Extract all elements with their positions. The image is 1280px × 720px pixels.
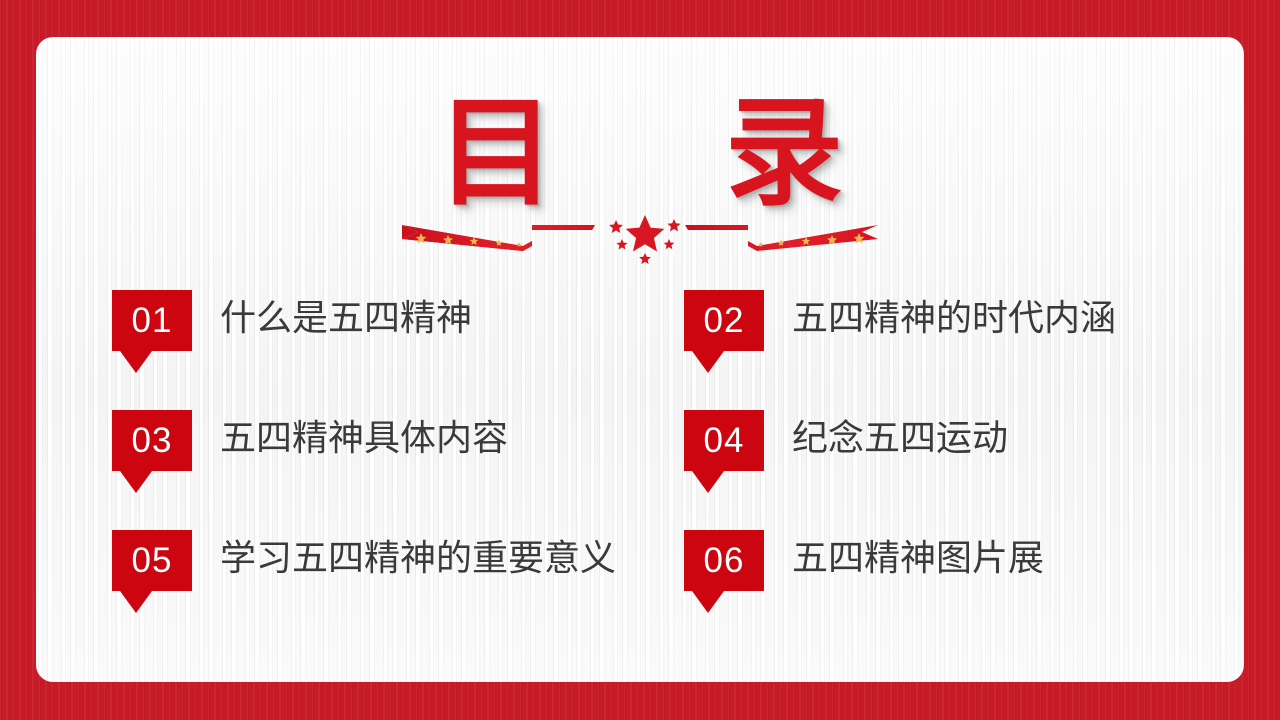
toc-number-badge-03: 03 [112,410,192,471]
toc-number-03: 03 [132,423,173,458]
title-block: 目 录 [36,92,1244,216]
toc-number-01: 01 [132,303,173,338]
slide-canvas: 目 录 [0,0,1280,720]
toc-item-05[interactable]: 05 学习五四精神的重要意义 [112,525,674,645]
toc-number-02: 02 [704,303,745,338]
toc-number-05: 05 [132,543,173,578]
toc-number-badge-06: 06 [684,530,764,591]
toc-number-badge-02: 02 [684,290,764,351]
toc-label-01: 什么是五四精神 [220,285,472,353]
toc-label-05: 学习五四精神的重要意义 [220,525,616,593]
toc-item-02[interactable]: 02 五四精神的时代内涵 [684,285,1246,405]
toc-item-04[interactable]: 04 纪念五四运动 [684,405,1246,525]
toc-number-badge-05: 05 [112,530,192,591]
five-point-star-cluster [609,215,681,264]
toc-item-03[interactable]: 03 五四精神具体内容 [112,405,674,525]
toc-item-01[interactable]: 01 什么是五四精神 [112,285,674,405]
ribbon-star-divider [390,205,890,275]
page-title: 目 录 [411,92,869,216]
toc-label-04: 纪念五四运动 [792,405,1008,473]
toc-item-06[interactable]: 06 五四精神图片展 [684,525,1246,645]
toc-number-04: 04 [704,423,745,458]
toc-number-06: 06 [704,543,745,578]
toc-label-03: 五四精神具体内容 [220,405,508,473]
toc-menu: 01 什么是五四精神 02 五四精神的时代内涵 03 五四精神具体内容 04 纪… [36,285,1244,645]
toc-number-badge-01: 01 [112,290,192,351]
left-banner-ribbon [402,225,595,251]
toc-number-badge-04: 04 [684,410,764,471]
right-banner-ribbon [685,225,878,251]
toc-label-06: 五四精神图片展 [792,525,1044,593]
toc-label-02: 五四精神的时代内涵 [792,285,1116,353]
